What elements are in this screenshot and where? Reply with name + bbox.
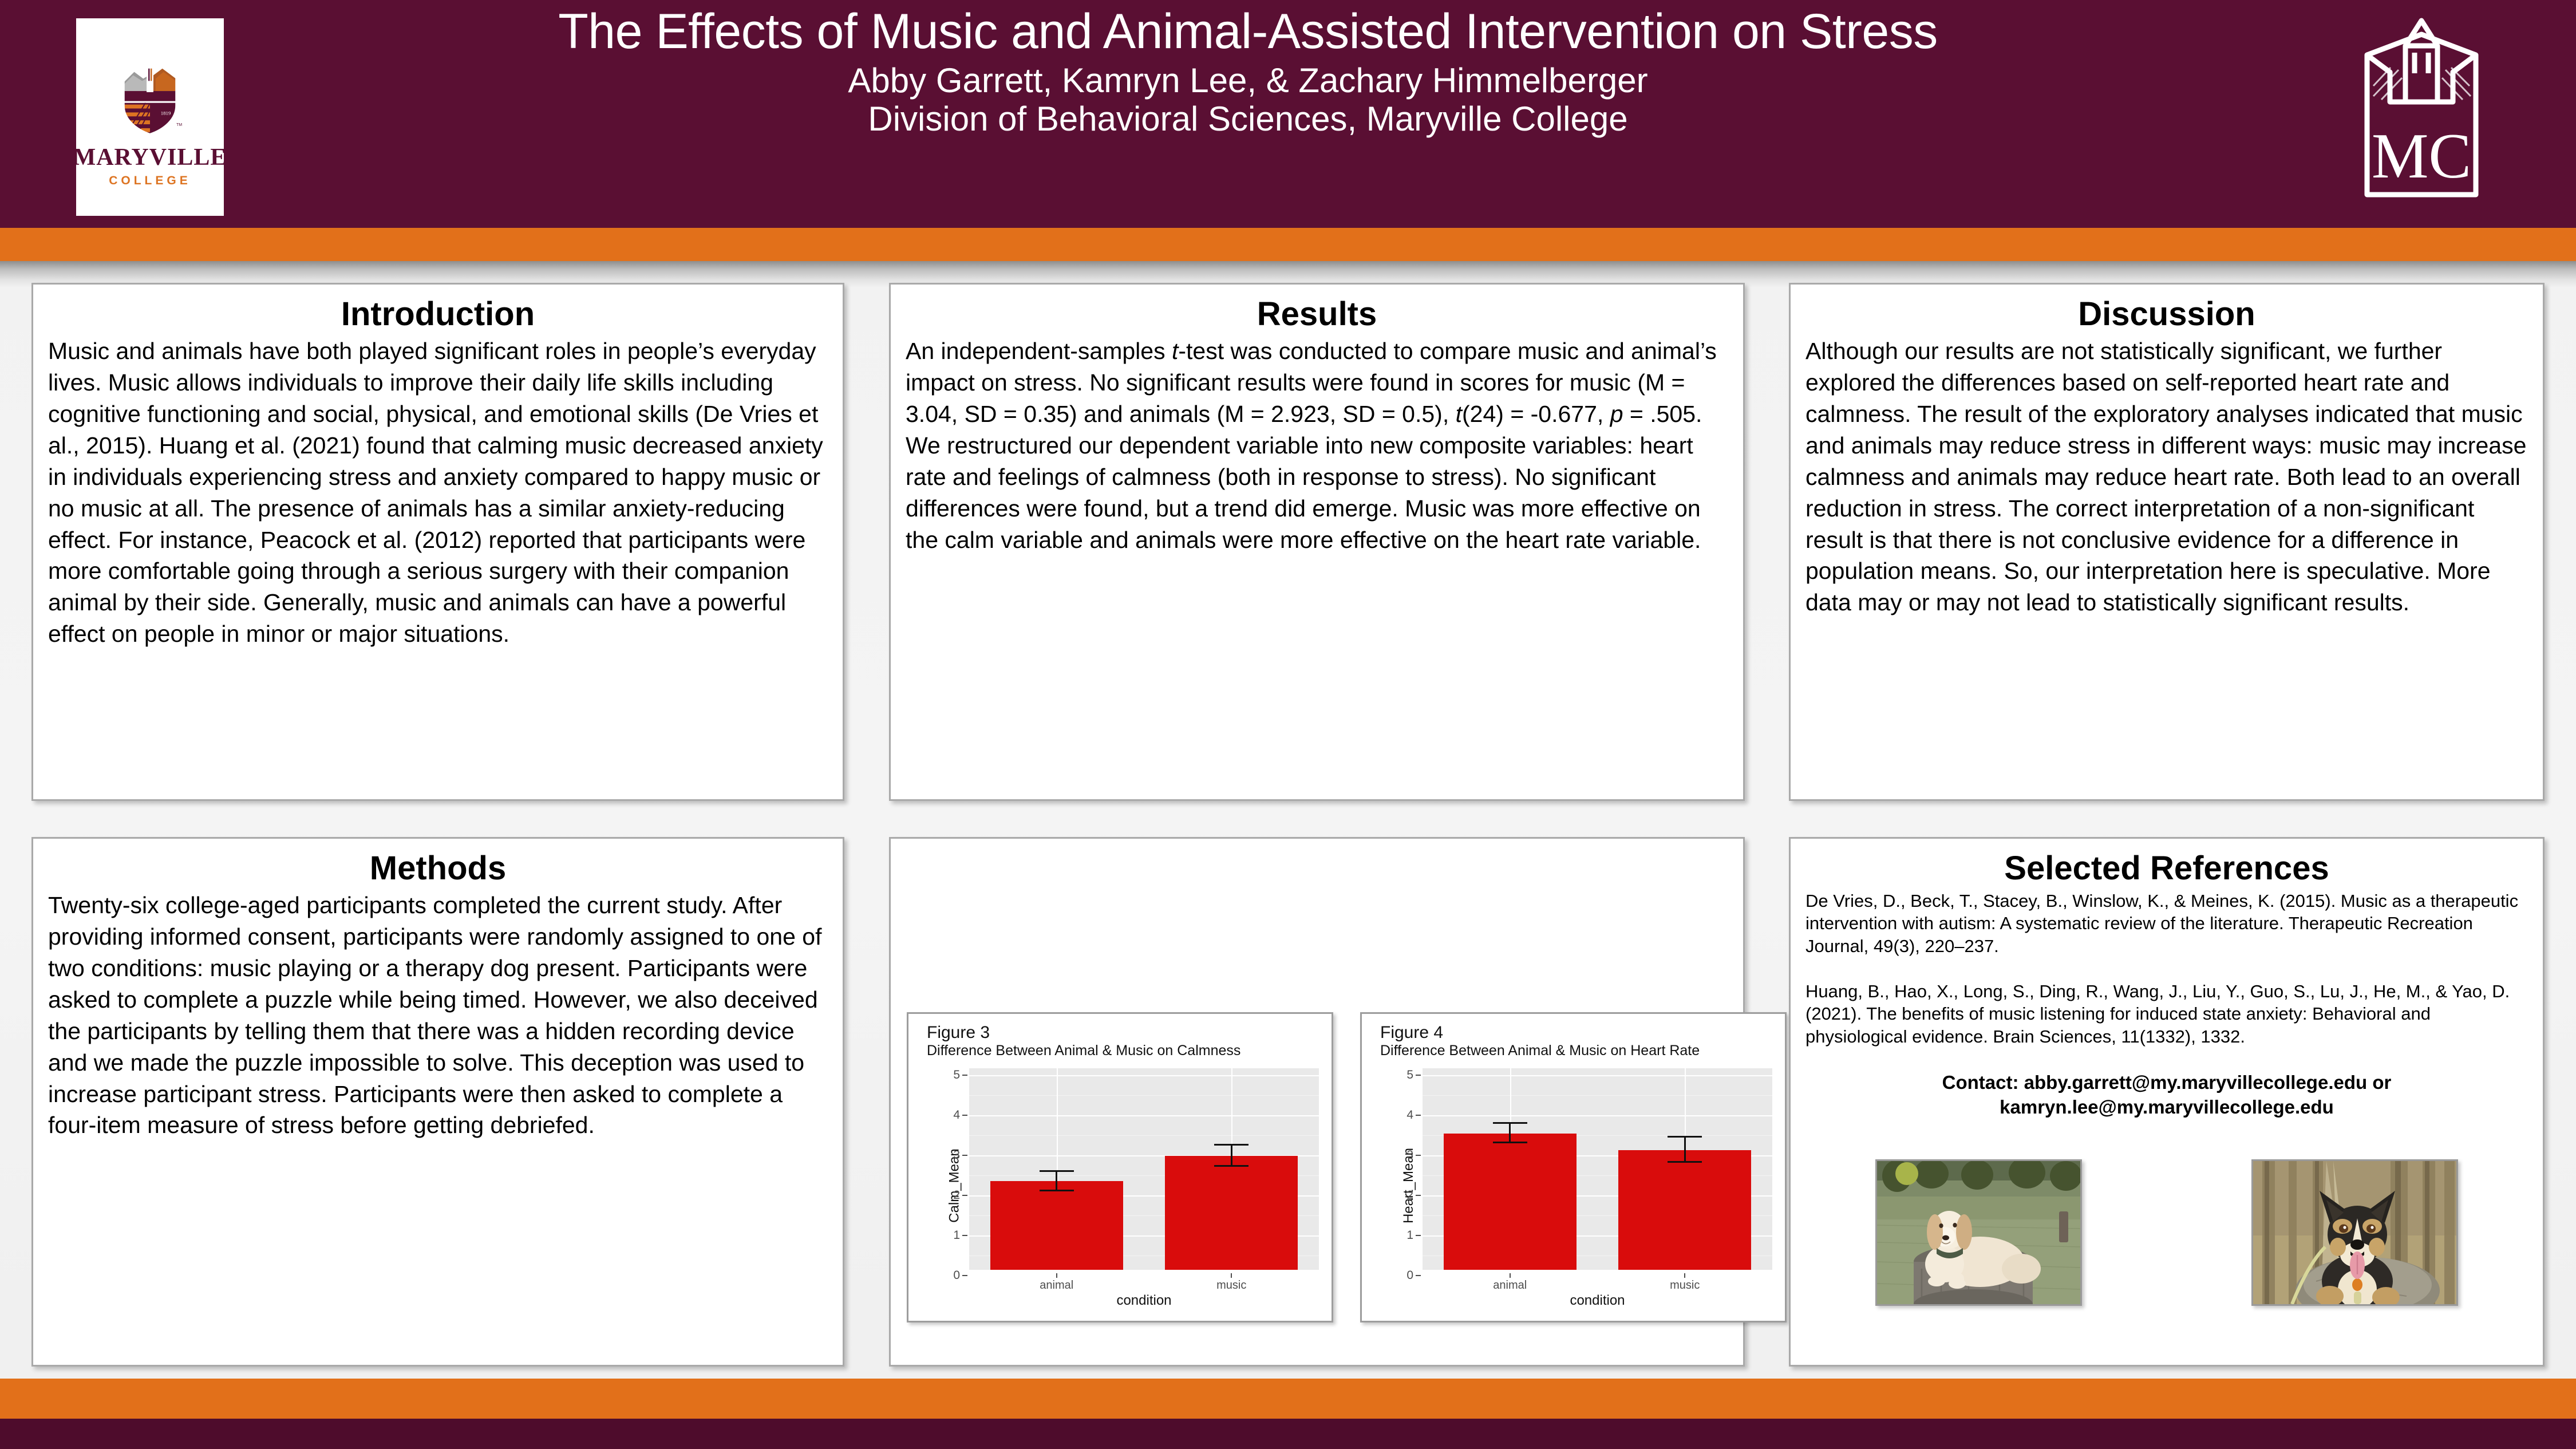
fig4-bar-music (1618, 1150, 1751, 1270)
svg-text:TM: TM (176, 123, 182, 127)
fig4-bar-animal (1444, 1134, 1577, 1270)
fig4-ytick-5: 5 (1387, 1068, 1413, 1082)
figure-4-card: Figure 4 Difference Between Animal & Mus… (1360, 1012, 1787, 1322)
figure-4-plot: Heart_Mean 0 1 2 3 4 5 (1370, 1063, 1776, 1309)
fig3-bar-animal (990, 1181, 1123, 1270)
fig3-ytick-2: 2 (934, 1189, 960, 1202)
fig3-errorbar-animal (1056, 1171, 1057, 1191)
mc-monogram-text: MC (2372, 121, 2471, 192)
fig4-plot-panel (1423, 1068, 1772, 1270)
fig4-ytick-4: 4 (1387, 1108, 1413, 1122)
maryville-shield-icon: 1819 TM (116, 47, 184, 137)
figure-4-xlabel: condition (1423, 1293, 1772, 1309)
section-introduction: Introduction Music and animals have both… (31, 283, 844, 801)
fig3-plot-panel (969, 1068, 1319, 1270)
fig4-xtick-animal: animal (1493, 1279, 1527, 1292)
footer-orange-stripe (0, 1379, 2576, 1419)
shield-year-text: 1819 (161, 110, 171, 116)
discussion-body: Although our results are not statistical… (1805, 335, 2528, 618)
figure-3-label: Figure 3 (927, 1023, 1322, 1042)
reference-entry-1: De Vries, D., Beck, T., Stacey, B., Wins… (1805, 890, 2528, 957)
fig4-ytick-3: 3 (1387, 1148, 1413, 1162)
photo-row (1791, 1159, 2543, 1322)
section-references: Selected References De Vries, D., Beck, … (1789, 837, 2545, 1367)
fig3-ytick-1: 1 (934, 1229, 960, 1242)
results-text-3: (24) = -0.677, (1462, 401, 1610, 427)
fig3-ytick-5: 5 (934, 1068, 960, 1082)
fig3-ytick-0: 0 (934, 1269, 960, 1282)
figure-3-plot: Calm_Mean 0 1 2 3 4 5 (916, 1063, 1322, 1309)
author-list: Abby Garrett, Kamryn Lee, & Zachary Himm… (246, 61, 2250, 100)
introduction-heading: Introduction (48, 297, 828, 332)
section-results: Results An independent-samples t-test wa… (889, 283, 1745, 801)
fig4-errorbar-animal (1509, 1124, 1511, 1143)
fig3-xtick-music: music (1216, 1279, 1246, 1292)
references-heading: Selected References (1805, 851, 2528, 886)
logo-subtext: COLLEGE (109, 174, 191, 188)
fig3-xtick-animal: animal (1040, 1279, 1073, 1292)
fig4-ytick-1: 1 (1387, 1229, 1413, 1242)
dog-photo-aussie (2251, 1159, 2458, 1306)
reference-entry-2: Huang, B., Hao, X., Long, S., Ding, R., … (1805, 980, 2528, 1048)
footer-maroon-bar (0, 1419, 2576, 1449)
fig3-bar-music (1165, 1156, 1298, 1270)
aussie-photo-illustration (2253, 1161, 2456, 1304)
results-italic-p: p (1610, 401, 1623, 427)
figure-4-title: Difference Between Animal & Music on Hea… (1380, 1043, 1776, 1059)
dog-photo-cockapoo (1875, 1159, 2082, 1306)
section-figures: Figure 3 Difference Between Animal & Mus… (889, 837, 1745, 1367)
results-italic-t1: t (1172, 338, 1178, 364)
fig4-ytick-2: 2 (1387, 1189, 1413, 1202)
contact-line-1: Contact: abby.garrett@my.maryvillecolleg… (1805, 1071, 2528, 1095)
fig4-ytick-0: 0 (1387, 1269, 1413, 1282)
affiliation: Division of Behavioral Sciences, Maryvil… (246, 100, 2250, 138)
results-italic-t2: t (1456, 401, 1462, 427)
figure-4-label: Figure 4 (1380, 1023, 1776, 1042)
methods-body: Twenty-six college-aged participants com… (48, 890, 828, 1142)
figure-3-card: Figure 3 Difference Between Animal & Mus… (907, 1012, 1333, 1322)
mc-building-icon: MC (2336, 10, 2507, 211)
section-discussion: Discussion Although our results are not … (1789, 283, 2545, 801)
discussion-heading: Discussion (1805, 297, 2528, 332)
results-heading: Results (906, 297, 1728, 332)
section-methods: Methods Twenty-six college-aged particip… (31, 837, 844, 1367)
figure-3-title: Difference Between Animal & Music on Cal… (927, 1043, 1322, 1059)
maryville-college-logo: 1819 TM MARYVILLE COLLEGE (76, 18, 224, 216)
page-title: The Effects of Music and Animal-Assisted… (246, 6, 2250, 58)
references-list: De Vries, D., Beck, T., Stacey, B., Wins… (1805, 890, 2528, 1048)
contact-info: Contact: abby.garrett@my.maryvillecolleg… (1805, 1071, 2528, 1120)
header-text-block: The Effects of Music and Animal-Assisted… (246, 6, 2250, 139)
cockapoo-photo-illustration (1877, 1161, 2080, 1304)
figure-3-xlabel: condition (969, 1293, 1319, 1309)
results-text-1: An independent-samples (906, 338, 1172, 364)
fig3-ytick-3: 3 (934, 1148, 960, 1162)
fig3-errorbar-music (1231, 1146, 1232, 1167)
logo-wordmark: MARYVILLE (73, 145, 227, 169)
header-orange-stripe (0, 228, 2576, 261)
fig3-ytick-4: 4 (934, 1108, 960, 1122)
poster-canvas: 1819 TM MARYVILLE COLLEGE The Effects of… (0, 0, 2576, 1449)
results-body: An independent-samples t-test was conduc… (906, 335, 1728, 556)
fig4-errorbar-music (1684, 1138, 1686, 1163)
contact-line-2: kamryn.lee@my.maryvillecollege.edu (1805, 1095, 2528, 1120)
introduction-body: Music and animals have both played signi… (48, 335, 828, 650)
fig4-xtick-music: music (1670, 1279, 1700, 1292)
methods-heading: Methods (48, 851, 828, 886)
